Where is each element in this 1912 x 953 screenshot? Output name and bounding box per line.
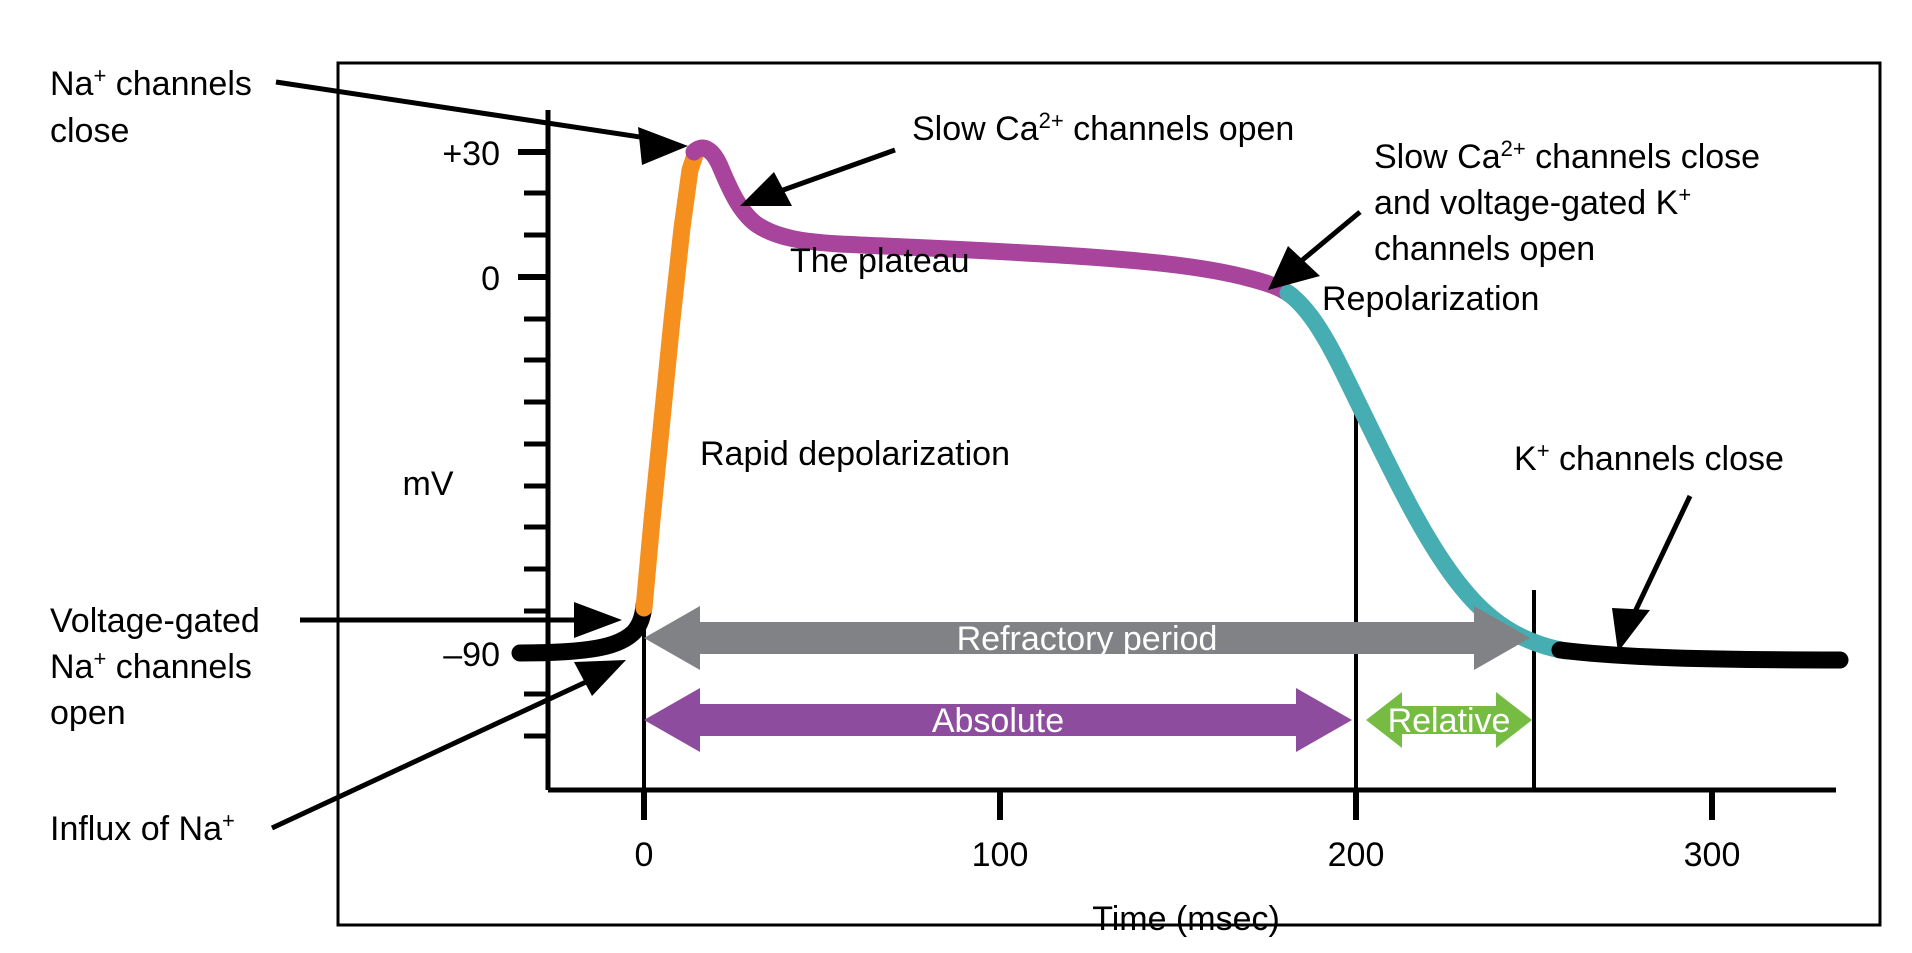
curve-label-rapid-depolarization: Rapid depolarization <box>700 435 1010 473</box>
bar-absolute-refractory-label: Absolute <box>932 702 1064 740</box>
figure-root: +30 0 –90 mV 0 100 200 300 Time (msec) <box>0 0 1912 953</box>
y-tick-label-zero: 0 <box>481 260 500 298</box>
x-tick-label-0: 0 <box>635 836 654 874</box>
curve-label-the-plateau: The plateau <box>790 242 970 280</box>
annotation-na-channels-close-line2: close <box>50 112 129 150</box>
action-potential-figure: +30 0 –90 mV 0 100 200 300 Time (msec) <box>0 0 1912 953</box>
annotation-slow-ca-close-k-open-line2: and voltage-gated K+ <box>1374 182 1691 222</box>
bar-relative-refractory-label: Relative <box>1388 702 1511 740</box>
annotation-influx-of-na-text: Influx of Na+ <box>50 808 235 848</box>
annotation-slow-ca-channels-open-text: Slow Ca2+ channels open <box>912 108 1294 148</box>
annotation-voltage-gated-na-open-line2: Na+ channels <box>50 646 252 686</box>
y-axis-label: mV <box>403 465 454 503</box>
y-tick-label-plus30: +30 <box>442 135 500 173</box>
annotation-voltage-gated-na-open-line3: open <box>50 694 126 732</box>
x-tick-label-300: 300 <box>1684 836 1741 874</box>
annotation-na-channels-close-line1: Na+ channels <box>50 63 252 103</box>
annotation-slow-ca-close-k-open-line3: channels open <box>1374 230 1595 268</box>
annotation-k-channels-close-text: K+ channels close <box>1514 438 1784 478</box>
x-tick-label-200: 200 <box>1328 836 1385 874</box>
annotation-voltage-gated-na-open-line1: Voltage-gated <box>50 602 260 640</box>
curve-resting-post <box>1560 650 1840 660</box>
bar-refractory-period-label: Refractory period <box>957 620 1218 658</box>
x-axis-label: Time (msec) <box>1092 900 1280 938</box>
y-tick-label-minus90: –90 <box>443 636 500 674</box>
annotation-slow-ca-close-k-open-line1: Slow Ca2+ channels close <box>1374 136 1760 176</box>
x-tick-label-100: 100 <box>972 836 1029 874</box>
curve-label-repolarization: Repolarization <box>1322 280 1539 318</box>
